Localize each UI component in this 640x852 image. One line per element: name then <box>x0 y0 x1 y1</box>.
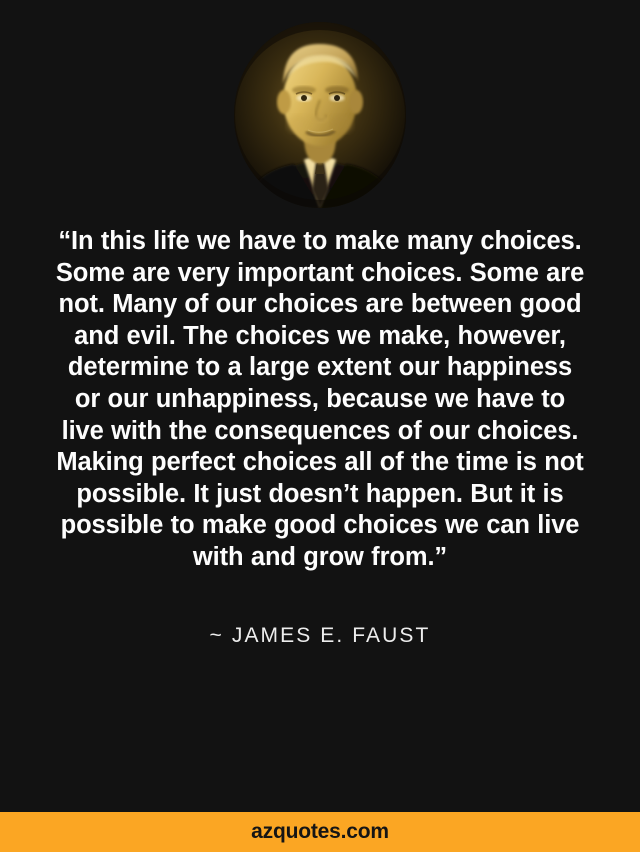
portrait-photo-icon <box>234 22 406 208</box>
site-footer: azquotes.com <box>0 812 640 852</box>
site-footer-label[interactable]: azquotes.com <box>251 820 389 844</box>
quote-text: “In this life we have to make many choic… <box>55 226 585 574</box>
portrait-container <box>234 22 406 208</box>
quote-author: ~ JAMES E. FAUST <box>0 624 640 648</box>
author-portrait <box>234 22 406 208</box>
quote-card: “In this life we have to make many choic… <box>0 0 640 852</box>
